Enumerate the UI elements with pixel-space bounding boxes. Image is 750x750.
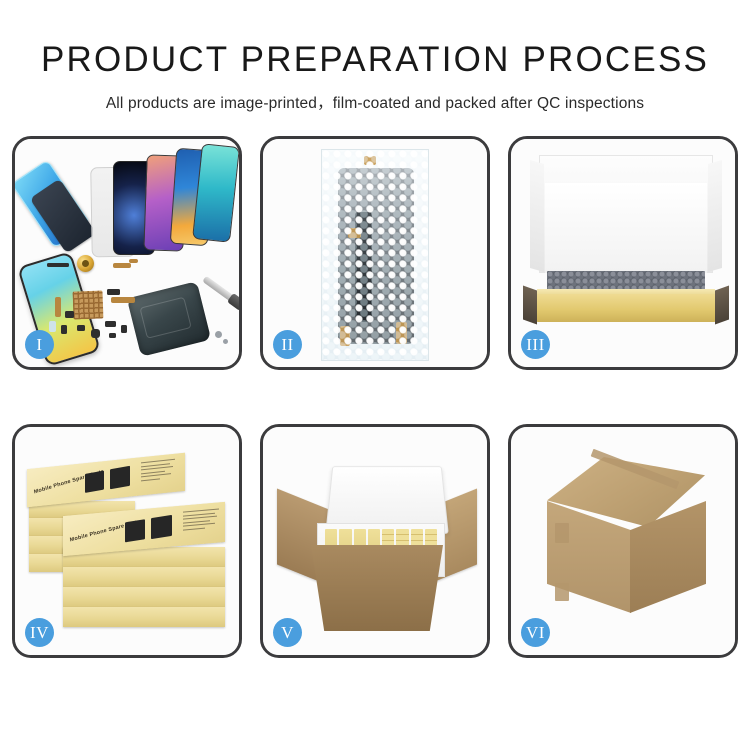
carton-body-icon	[311, 545, 443, 631]
step-panel-1[interactable]: I	[12, 136, 242, 370]
step-badge-1: I	[25, 330, 54, 359]
step-panel-2[interactable]: II	[260, 136, 490, 370]
header: PRODUCT PREPARATION PROCESS All products…	[0, 0, 750, 113]
step-panel-5[interactable]: V	[260, 424, 490, 658]
step-panel-6[interactable]: VI	[508, 424, 738, 658]
bubble-wrap-bag-icon	[321, 149, 429, 361]
page-subtitle: All products are image-printed，film-coat…	[0, 91, 750, 113]
step-panel-3[interactable]: III	[508, 136, 738, 370]
step-badge-5: V	[273, 618, 302, 647]
step-badge-4: IV	[25, 618, 54, 647]
step-panel-4[interactable]: Mobile Phone Spare Parts Mobile Phone Sp…	[12, 424, 242, 658]
step-badge-3: III	[521, 330, 550, 359]
foam-sheet-icon	[545, 183, 707, 273]
yellow-box-base-icon	[535, 294, 717, 322]
camera-ring-icon	[77, 255, 94, 272]
phone-backplate-icon	[127, 281, 211, 357]
product-preparation-infographic: PRODUCT PREPARATION PROCESS All products…	[0, 0, 750, 750]
screwdriver-icon	[202, 276, 234, 302]
sealed-carton-icon	[533, 457, 719, 629]
step-badge-6: VI	[521, 618, 550, 647]
page-title: PRODUCT PREPARATION PROCESS	[0, 40, 750, 80]
process-step-grid: I II	[12, 136, 738, 658]
speaker-mesh-icon	[73, 290, 104, 319]
step-badge-2: II	[273, 330, 302, 359]
